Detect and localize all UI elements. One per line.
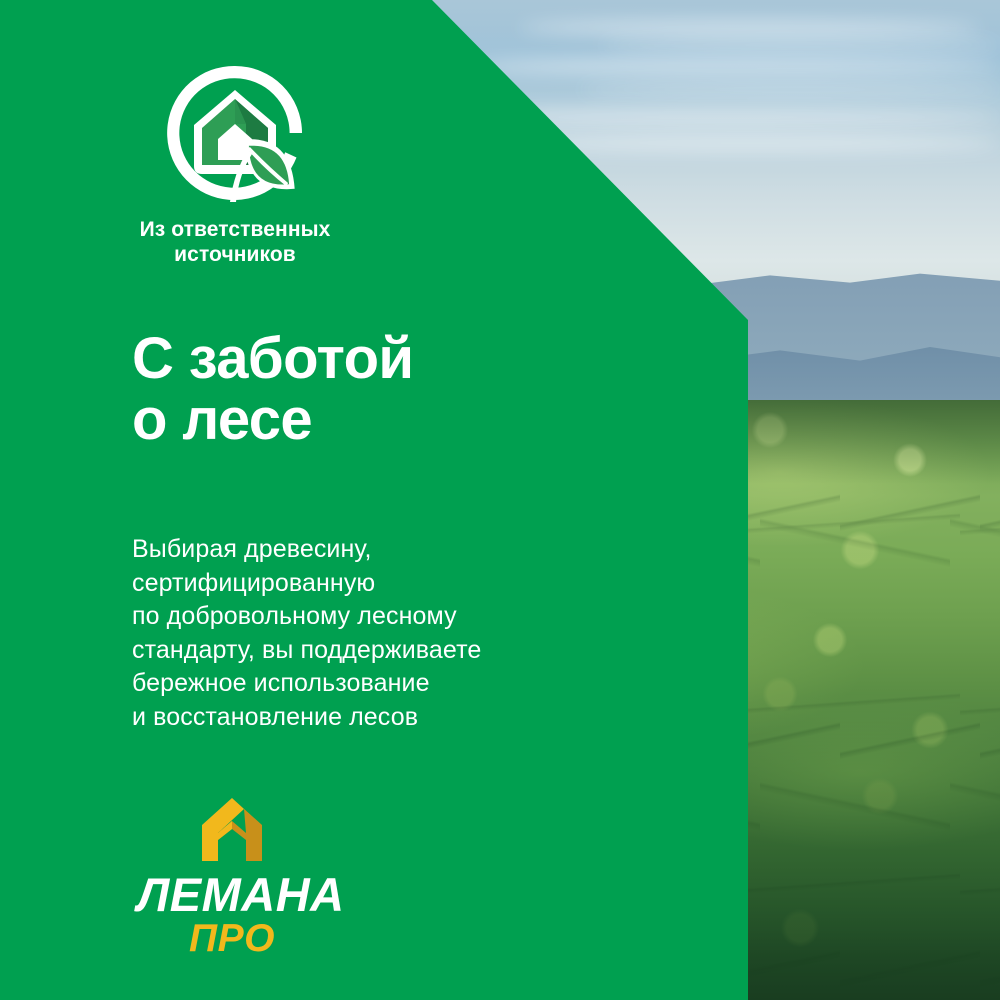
headline-line-2: о лесе xyxy=(132,389,413,450)
certification-caption-line-1: Из ответственных xyxy=(130,218,340,243)
house-leaf-circle-icon xyxy=(164,62,306,204)
house-roof-icon xyxy=(192,795,272,865)
poster: Из ответственных источников С заботой о … xyxy=(0,0,1000,1000)
brand-logo-lemana-pro: ЛЕМАНА ПРО xyxy=(137,795,327,958)
poster-content: Из ответственных источников С заботой о … xyxy=(0,0,1000,1000)
body-line-1: Выбирая древесину, xyxy=(132,533,481,567)
certification-caption: Из ответственных источников xyxy=(130,218,340,268)
headline: С заботой о лесе xyxy=(132,328,413,451)
headline-line-1: С заботой xyxy=(132,328,413,389)
brand-name: ЛЕМАНА xyxy=(137,873,327,918)
body-paragraph: Выбирая древесину, сертифицированную по … xyxy=(132,533,481,734)
body-line-5: бережное использование xyxy=(132,667,481,701)
body-line-2: сертифицированную xyxy=(132,567,481,601)
body-line-4: стандарту, вы поддерживаете xyxy=(132,634,481,668)
brand-subname: ПРО xyxy=(137,919,327,958)
certification-caption-line-2: источников xyxy=(130,243,340,268)
body-line-3: по добровольному лесному xyxy=(132,600,481,634)
certification-logo: Из ответственных источников xyxy=(130,62,340,268)
body-line-6: и восстановление лесов xyxy=(132,701,481,735)
